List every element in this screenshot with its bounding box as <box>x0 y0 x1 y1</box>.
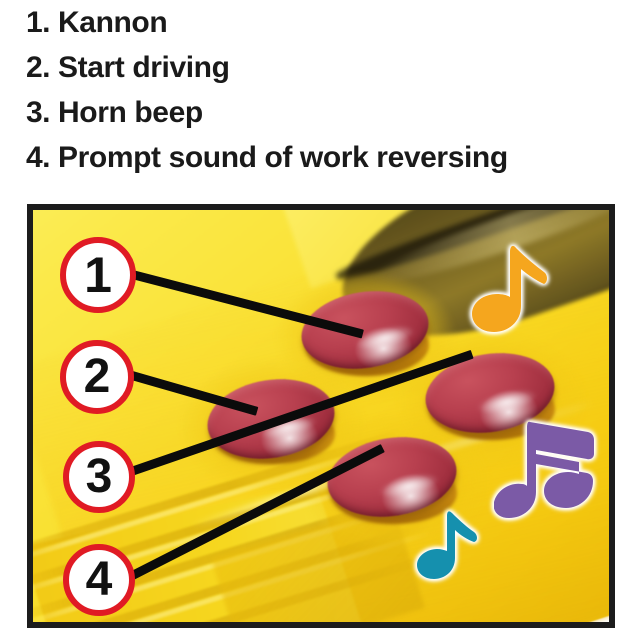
orange-eighth-note-icon <box>464 244 550 336</box>
callout-4-label: 4 <box>86 556 113 604</box>
list-item-label: Prompt sound of work reversing <box>58 141 508 175</box>
list-item-label: Horn beep <box>58 96 203 130</box>
list-item: 3. Horn beep <box>0 96 640 141</box>
list-item: 2. Start driving <box>0 51 640 96</box>
teal-eighth-note-icon <box>414 510 480 582</box>
callout-3[interactable]: 3 <box>63 441 135 513</box>
callout-3-label: 3 <box>86 453 113 501</box>
list-item: 4. Prompt sound of work reversing <box>0 141 640 186</box>
callout-2[interactable]: 2 <box>60 340 134 414</box>
list-item: 1. Kannon <box>0 6 640 51</box>
list-item-number: 3. <box>26 96 50 130</box>
list-item-number: 1. <box>26 6 50 40</box>
list-item-number: 4. <box>26 141 50 175</box>
product-photo: 1 2 3 4 <box>33 210 609 622</box>
callout-4[interactable]: 4 <box>63 544 135 616</box>
callout-1[interactable]: 1 <box>60 237 136 313</box>
list-item-number: 2. <box>26 51 50 85</box>
list-item-label: Kannon <box>58 6 167 40</box>
callout-1-label: 1 <box>84 250 112 300</box>
instruction-list: 1. Kannon 2. Start driving 3. Horn beep … <box>0 0 640 196</box>
list-item-label: Start driving <box>58 51 230 85</box>
product-photo-panel: 1 2 3 4 <box>27 204 615 628</box>
purple-beamed-note-icon <box>494 418 598 520</box>
callout-2-label: 2 <box>84 353 111 401</box>
